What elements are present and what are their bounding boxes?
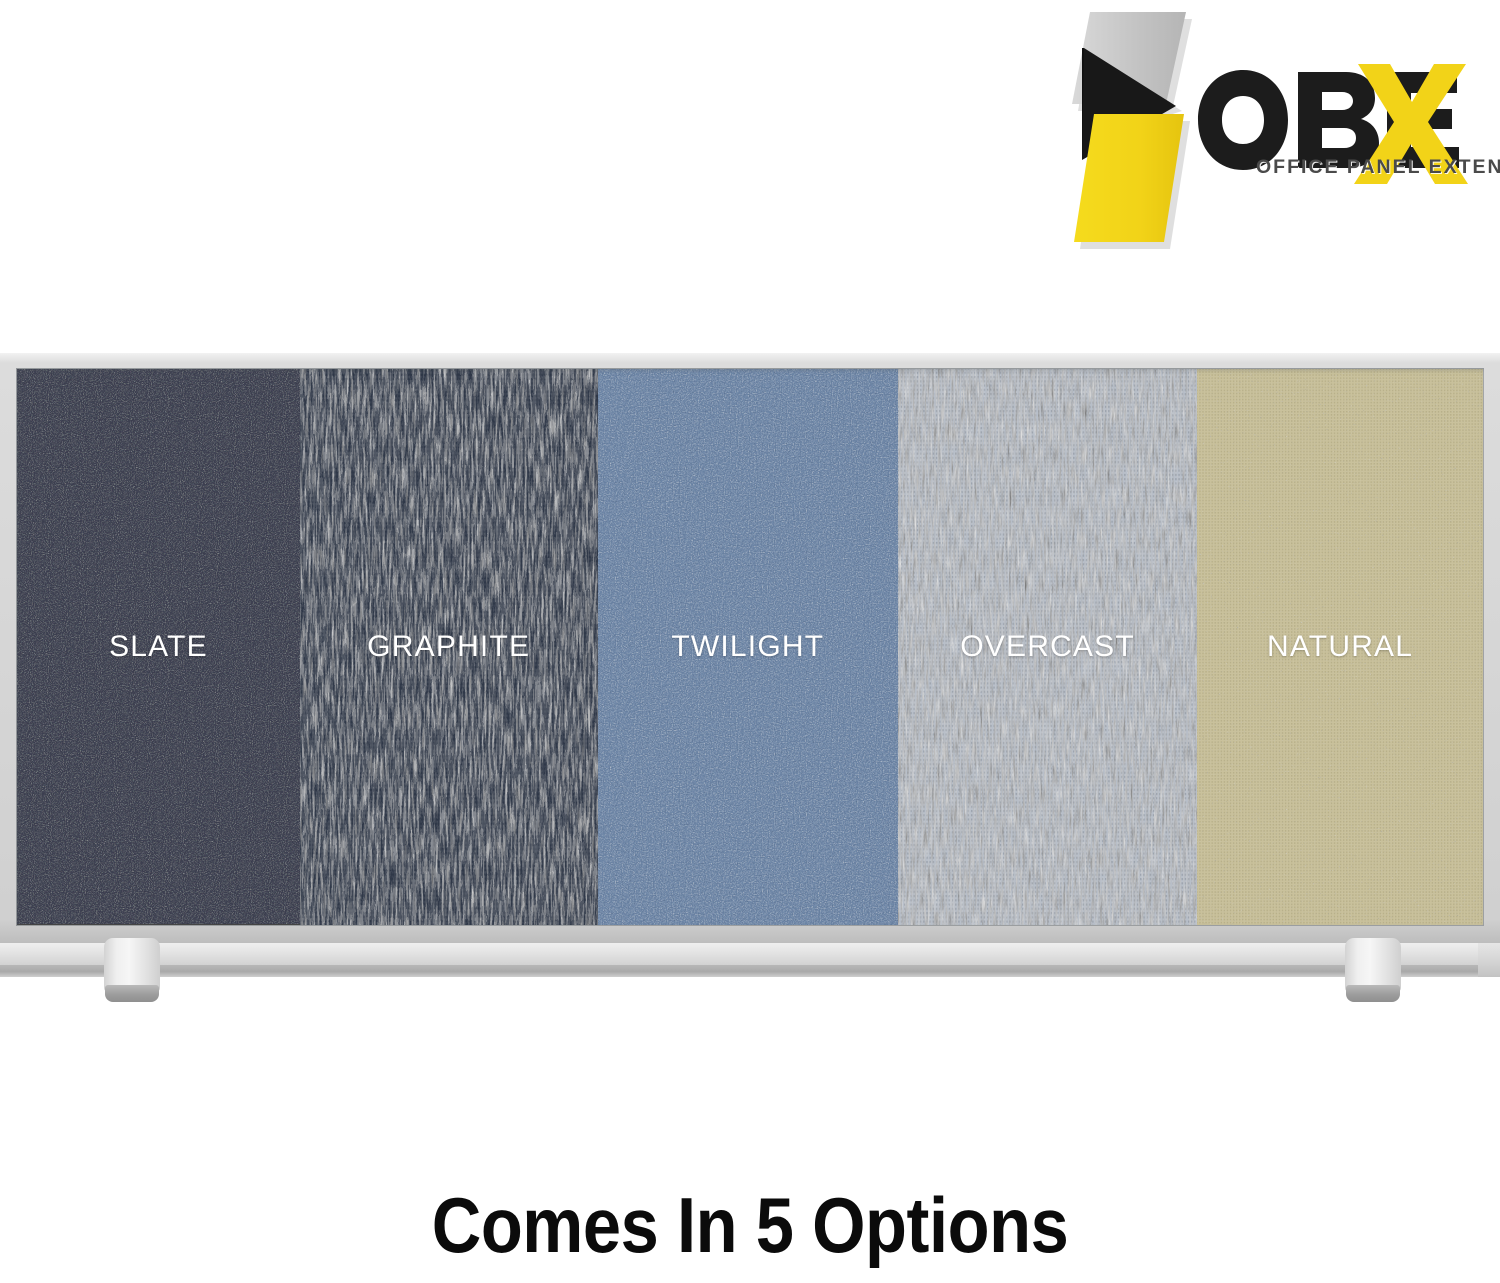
swatch-twilight[interactable]: TWILIGHT (598, 369, 899, 925)
clamp-body-right (1345, 938, 1401, 992)
swatch-label-twilight: TWILIGHT (598, 630, 899, 664)
panel-bottom-rail-upper (0, 943, 1478, 965)
mounting-clamp-left[interactable] (104, 938, 160, 1006)
obex-logo: OFFICE PANEL EXTENDERS (1068, 6, 1488, 261)
clamp-body-left (104, 938, 160, 992)
caption-comes-in-5-options: Comes In 5 Options (90, 1178, 1410, 1273)
swatch-slate[interactable]: SLATE (17, 369, 300, 925)
panel-rail-end-cap (1478, 943, 1500, 977)
swatch-label-graphite: GRAPHITE (300, 630, 598, 664)
swatch-label-slate: SLATE (17, 630, 300, 664)
logo-tagline: OFFICE PANEL EXTENDERS (1256, 156, 1500, 179)
panel-extender-product: SLATE (0, 350, 1500, 1010)
obex-chevron-mark-icon (1068, 10, 1198, 262)
swatch-label-natural: NATURAL (1197, 630, 1483, 664)
swatch-graphite[interactable]: GRAPHITE (300, 369, 598, 925)
swatch-natural[interactable]: NATURAL (1197, 369, 1483, 925)
product-image-canvas: OFFICE PANEL EXTENDERS (0, 0, 1500, 1283)
swatch-label-overcast: OVERCAST (898, 630, 1197, 664)
panel-bottom-rail-lower (0, 965, 1478, 977)
clamp-base-right (1346, 985, 1400, 1002)
mounting-clamp-right[interactable] (1345, 938, 1401, 1006)
swatch-overcast[interactable]: OVERCAST (898, 369, 1197, 925)
fabric-swatch-strip: SLATE (17, 369, 1483, 925)
clamp-base-left (105, 985, 159, 1002)
obex-wordmark (1186, 58, 1488, 218)
